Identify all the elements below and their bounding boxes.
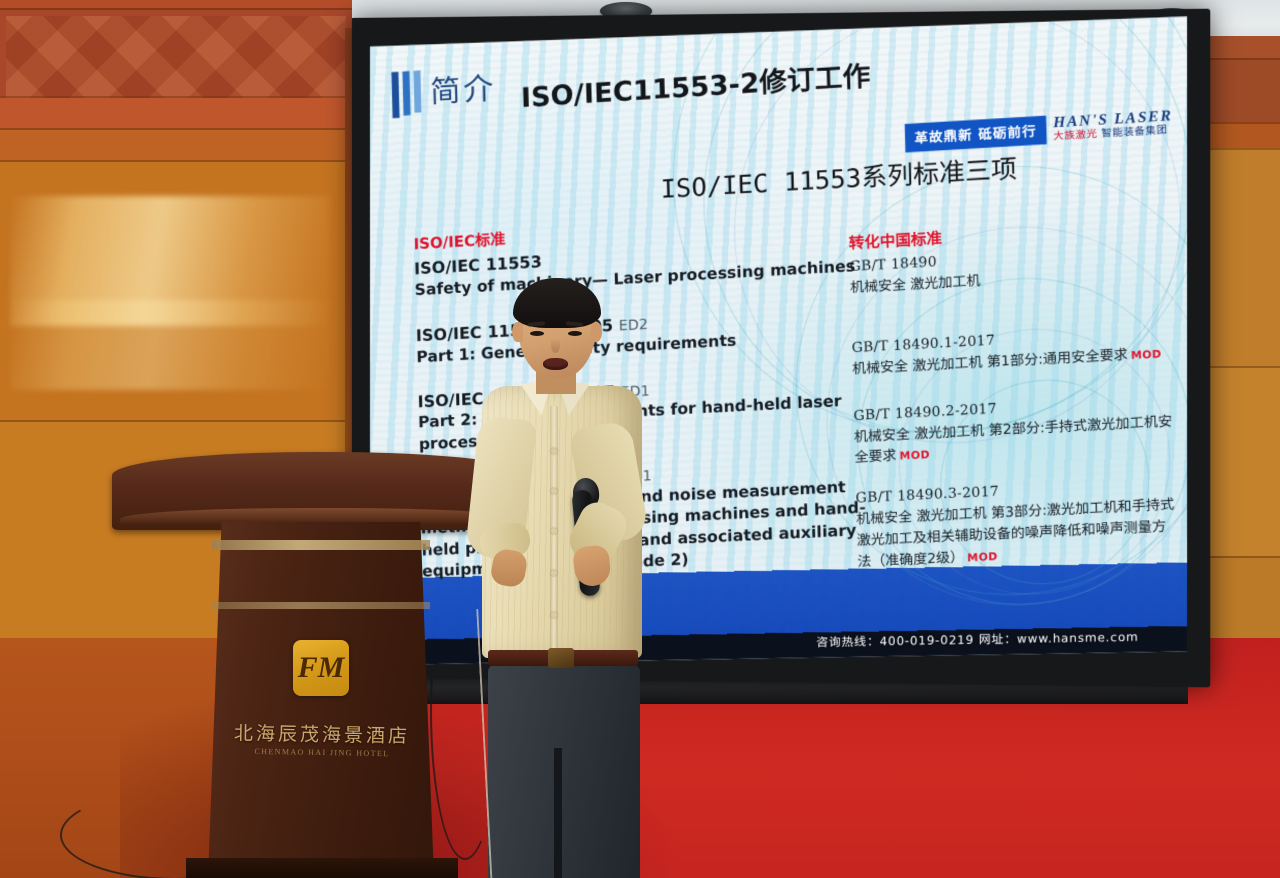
wall-decor-band — [6, 16, 346, 98]
gb-entry: GB/T 18490.2-2017 机械安全 激光加工机 第2部分:手持式激光加… — [853, 391, 1178, 470]
eye-left — [530, 331, 544, 336]
logo-brand: HAN'S LASER 大族激光 智能装备集团 — [1052, 109, 1172, 143]
title-accent-bars — [391, 70, 421, 118]
mouth — [543, 358, 568, 370]
presenter — [470, 278, 660, 878]
gb-entry: GB/T 18490.3-2017 机械安全 激光加工机 第3部分:激光加工机和… — [855, 474, 1180, 573]
podium-trim — [212, 540, 430, 550]
podium-body — [208, 522, 434, 878]
podium-lip — [120, 508, 524, 524]
conference-room-photo: 简介 ISO/IEC11553-2修订工作 革故鼎新 砥砺前行 HAN'S LA… — [0, 0, 1280, 878]
belt-buckle — [548, 648, 574, 668]
hotel-monogram-icon: FM — [293, 640, 349, 696]
ear-right — [591, 322, 602, 342]
ear-left — [512, 322, 523, 342]
podium-trim — [212, 602, 430, 609]
gb-standards-column: 转化中国标准 GB/T 18490 机械安全 激光加工机 GB/T 18490.… — [849, 214, 1182, 593]
hotel-name-cn: 北海辰茂海景酒店 — [224, 718, 420, 748]
presenter-hair — [513, 278, 601, 328]
trouser-seam — [554, 748, 562, 878]
slide-kicker: 简介 — [429, 63, 497, 111]
gb-entry: GB/T 18490.1-2017 机械安全 激光加工机 第1部分:通用安全要求… — [851, 322, 1175, 380]
slide-heading-cn: 系列标准三项 — [861, 154, 1017, 193]
eye-right — [568, 331, 582, 336]
nose — [551, 338, 560, 353]
podium-base — [186, 858, 458, 878]
